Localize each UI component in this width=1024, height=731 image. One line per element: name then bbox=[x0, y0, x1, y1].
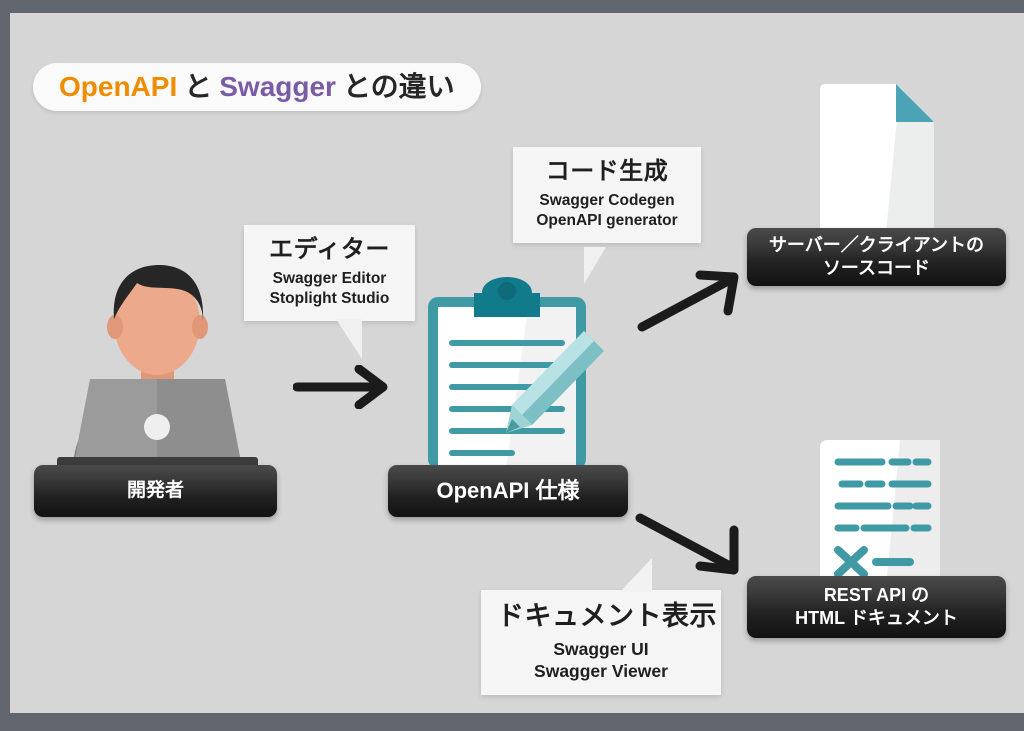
label-html-document-line-1: REST API の bbox=[824, 584, 929, 607]
laptop-lid-shade bbox=[157, 379, 240, 457]
arrow-dev-to-spec bbox=[293, 365, 393, 409]
bubble-docs-line-1: Swagger UI bbox=[497, 638, 705, 660]
label-developer: 開発者 bbox=[34, 465, 277, 517]
arrow-spec-to-source bbox=[636, 269, 744, 333]
label-source-code-line-2: ソースコード bbox=[823, 257, 930, 280]
bubble-docs: ドキュメント表示 Swagger UI Swagger Viewer bbox=[481, 590, 721, 695]
title-swagger: Swagger bbox=[219, 73, 336, 101]
title-suffix: との違い bbox=[336, 73, 455, 101]
bubble-docs-line-2: Swagger Viewer bbox=[497, 660, 705, 682]
page-title: OpenAPI と Swagger との違い bbox=[33, 63, 481, 111]
right-ear-shape bbox=[192, 315, 208, 339]
clipboard-illustration bbox=[420, 275, 610, 475]
bubble-codegen-line-2: OpenAPI generator bbox=[529, 211, 685, 231]
label-source-code: サーバー／クライアントの ソースコード bbox=[747, 228, 1006, 286]
title-connector: と bbox=[177, 73, 219, 101]
bubble-codegen-line-1: Swagger Codegen bbox=[529, 191, 685, 211]
bubble-editor-line-1: Swagger Editor bbox=[260, 269, 399, 289]
bubble-codegen: コード生成 Swagger Codegen OpenAPI generator bbox=[513, 147, 701, 243]
laptop-logo-icon bbox=[144, 414, 170, 440]
left-ear-shape bbox=[107, 315, 123, 339]
developer-illustration bbox=[45, 261, 270, 473]
diagram-canvas: OpenAPI と Swagger との違い bbox=[10, 13, 1024, 713]
label-html-document: REST API の HTML ドキュメント bbox=[747, 576, 1006, 638]
label-html-document-line-2: HTML ドキュメント bbox=[795, 607, 958, 630]
bubble-docs-tail bbox=[610, 558, 652, 592]
bubble-editor: エディター Swagger Editor Stoplight Studio bbox=[244, 225, 415, 321]
label-source-code-line-1: サーバー／クライアントの bbox=[769, 234, 984, 257]
title-openapi: OpenAPI bbox=[59, 73, 177, 101]
bubble-codegen-tail bbox=[584, 247, 614, 284]
clip-knob bbox=[498, 282, 516, 300]
source-code-document-icon bbox=[816, 83, 938, 233]
label-openapi-spec-line-1: OpenAPI 仕様 bbox=[436, 477, 579, 506]
bubble-docs-heading: ドキュメント表示 bbox=[497, 600, 705, 633]
html-document-icon bbox=[816, 438, 944, 588]
outer-frame: OpenAPI と Swagger との違い bbox=[0, 0, 1024, 731]
bubble-editor-tail bbox=[328, 319, 362, 359]
label-openapi-spec: OpenAPI 仕様 bbox=[388, 465, 628, 517]
bubble-editor-heading: エディター bbox=[260, 235, 399, 264]
bubble-codegen-heading: コード生成 bbox=[529, 157, 685, 186]
label-developer-line-1: 開発者 bbox=[127, 479, 184, 504]
bubble-editor-line-2: Stoplight Studio bbox=[260, 289, 399, 309]
